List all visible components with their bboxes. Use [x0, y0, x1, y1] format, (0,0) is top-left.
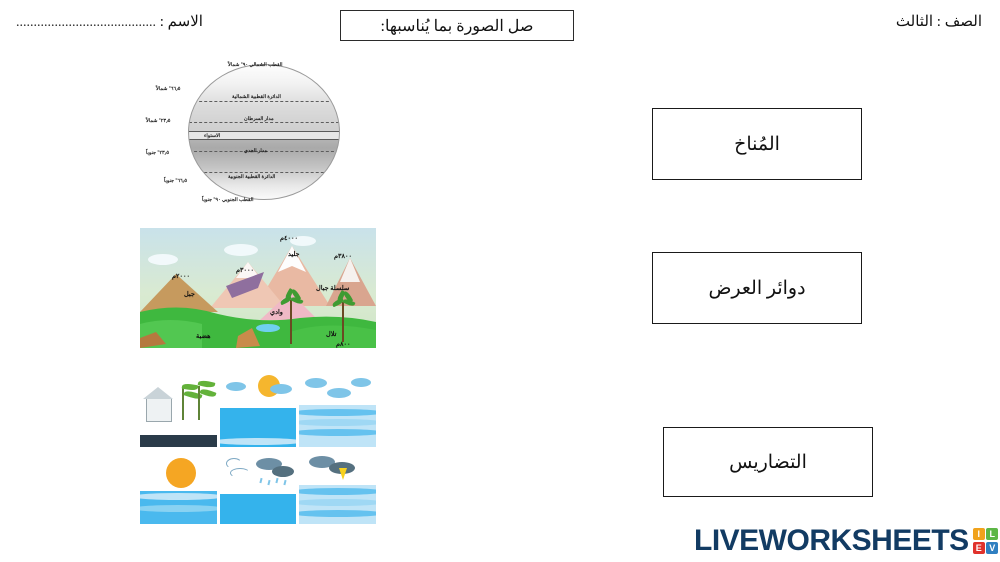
tree-leaf — [199, 387, 216, 398]
raindrop — [259, 477, 262, 482]
sea-shape — [140, 491, 217, 524]
answer-box-climate[interactable]: المُناخ — [652, 108, 862, 180]
tropic-of-cancer-label: مدار السرطان — [244, 116, 274, 122]
grade-label: الصف : الثالث — [896, 12, 982, 31]
cloud-icon — [327, 388, 351, 398]
arctic-circle-label: الدائرة القطبية الشمالية — [232, 94, 281, 100]
logo-tiles: L I V E — [973, 528, 999, 554]
tropic-of-cancer-value: ٢٣٫٥° شمالاً — [146, 118, 170, 124]
south-pole-label: القطب الجنوبي ٩٠° جنوباً — [202, 197, 253, 203]
lightning-icon — [339, 468, 347, 480]
plateau-label: هضبة — [196, 332, 211, 340]
name-label: الاسم : — [156, 14, 203, 30]
wave-shape — [140, 493, 217, 500]
answer-label: دوائر العرض — [708, 277, 805, 300]
logo-tile-i: I — [973, 528, 985, 540]
tropic-of-cancer-line — [189, 122, 339, 123]
house-shape — [146, 398, 172, 422]
raindrop — [275, 477, 278, 482]
answer-label: المُناخ — [734, 133, 780, 156]
hills-800-label: ٨٠٠م — [336, 340, 351, 348]
hills-label: تلال — [326, 330, 336, 338]
worksheet-page: { "header": { "grade_label": "الصف : الث… — [0, 0, 1000, 562]
wind-icon — [226, 458, 242, 469]
liveworksheets-logo[interactable]: L I V E LIVEWORKSHEETS — [694, 526, 998, 556]
cloud-icon — [226, 382, 246, 391]
globe-figure[interactable]: القطب الشمالي ٩٠° شمالاً الدائرة القطبية… — [140, 52, 390, 212]
mountain-label: جبل — [184, 290, 195, 298]
logo-tile-e: E — [973, 542, 985, 554]
wave-shape — [299, 438, 376, 445]
tropic-of-capricorn-value: ٢٣٫٥° جنوباً — [146, 150, 169, 156]
palm-trunk — [342, 302, 344, 342]
equator-label: الاستواء — [204, 133, 220, 139]
peak-4000-label: ٤٠٠٠م — [280, 234, 298, 242]
raindrop — [267, 479, 270, 484]
weather-panel-rainy-windy — [220, 450, 297, 525]
sea-shape — [299, 485, 376, 524]
name-field: الاسم : ................................… — [16, 12, 203, 31]
name-dotted-line: ........................................ — [16, 15, 156, 30]
wave-shape — [299, 429, 376, 436]
tree-leaf — [182, 383, 199, 392]
weather-figure[interactable] — [140, 372, 376, 524]
weather-panel-cloudy — [299, 372, 376, 447]
sea-shape — [220, 494, 297, 524]
raindrop — [283, 479, 286, 484]
north-pole-label: القطب الشمالي ٩٠° شمالاً — [228, 62, 283, 68]
sun-icon — [166, 458, 196, 488]
tree-leaf — [198, 379, 216, 388]
terrain-figure[interactable]: ٤٠٠٠م جليد ٣٨٠٠م ٣٠٠٠م سلسلة جبال ٢٠٠٠م … — [140, 228, 376, 348]
roof-shape — [143, 387, 173, 399]
palm-trunk — [290, 300, 292, 344]
ice-label: جليد — [288, 250, 300, 258]
rain-cloud-icon — [272, 466, 294, 477]
peak-2000-label: ٢٠٠٠م — [172, 272, 190, 280]
antarctic-circle-value: ٦٦٫٥° جنوباً — [164, 178, 187, 184]
wave-shape — [299, 409, 376, 416]
wave-shape — [140, 505, 217, 512]
ground-shape — [140, 435, 217, 447]
cloud-icon — [270, 384, 292, 394]
logo-wordmark: LIVEWORKSHEETS — [694, 526, 969, 556]
wave-shape — [299, 488, 376, 495]
answer-box-latitudes[interactable]: دوائر العرض — [652, 252, 862, 324]
weather-panel-sunny — [140, 450, 217, 525]
wave-shape — [299, 419, 376, 426]
weather-panel-thunderstorm — [299, 450, 376, 525]
sea-shape — [299, 405, 376, 447]
cloud-icon — [351, 378, 371, 387]
antarctic-circle-label: الدائرة القطبية الجنوبية — [228, 174, 275, 180]
tropic-of-capricorn-label: مدار الجدي — [244, 148, 267, 154]
peak-3000-label: ٣٠٠٠م — [236, 266, 254, 274]
sea-shape — [220, 408, 297, 447]
wind-icon — [230, 468, 250, 478]
answer-box-terrain[interactable]: التضاريس — [663, 427, 873, 497]
wave-shape — [299, 499, 376, 506]
weather-panel-windy-storm — [140, 372, 217, 447]
cloud-icon — [305, 378, 327, 388]
logo-tile-v: V — [986, 542, 998, 554]
arctic-circle-value: ٦٦٫٥° شمالاً — [156, 86, 180, 92]
peak-3800-label: ٣٨٠٠م — [334, 252, 352, 260]
wave-shape — [299, 510, 376, 517]
instruction-title-box: صل الصورة بما يُناسبها: — [340, 10, 574, 41]
page-title: صل الصورة بما يُناسبها: — [381, 16, 534, 36]
arctic-circle-line — [189, 101, 339, 102]
weather-panel-partly-sunny — [220, 372, 297, 447]
answer-label: التضاريس — [729, 451, 807, 474]
valley-label: وادي — [270, 308, 283, 316]
logo-tile-l: L — [986, 528, 998, 540]
wave-shape — [220, 438, 297, 445]
mountain-range-label: سلسلة جبال — [316, 284, 349, 292]
